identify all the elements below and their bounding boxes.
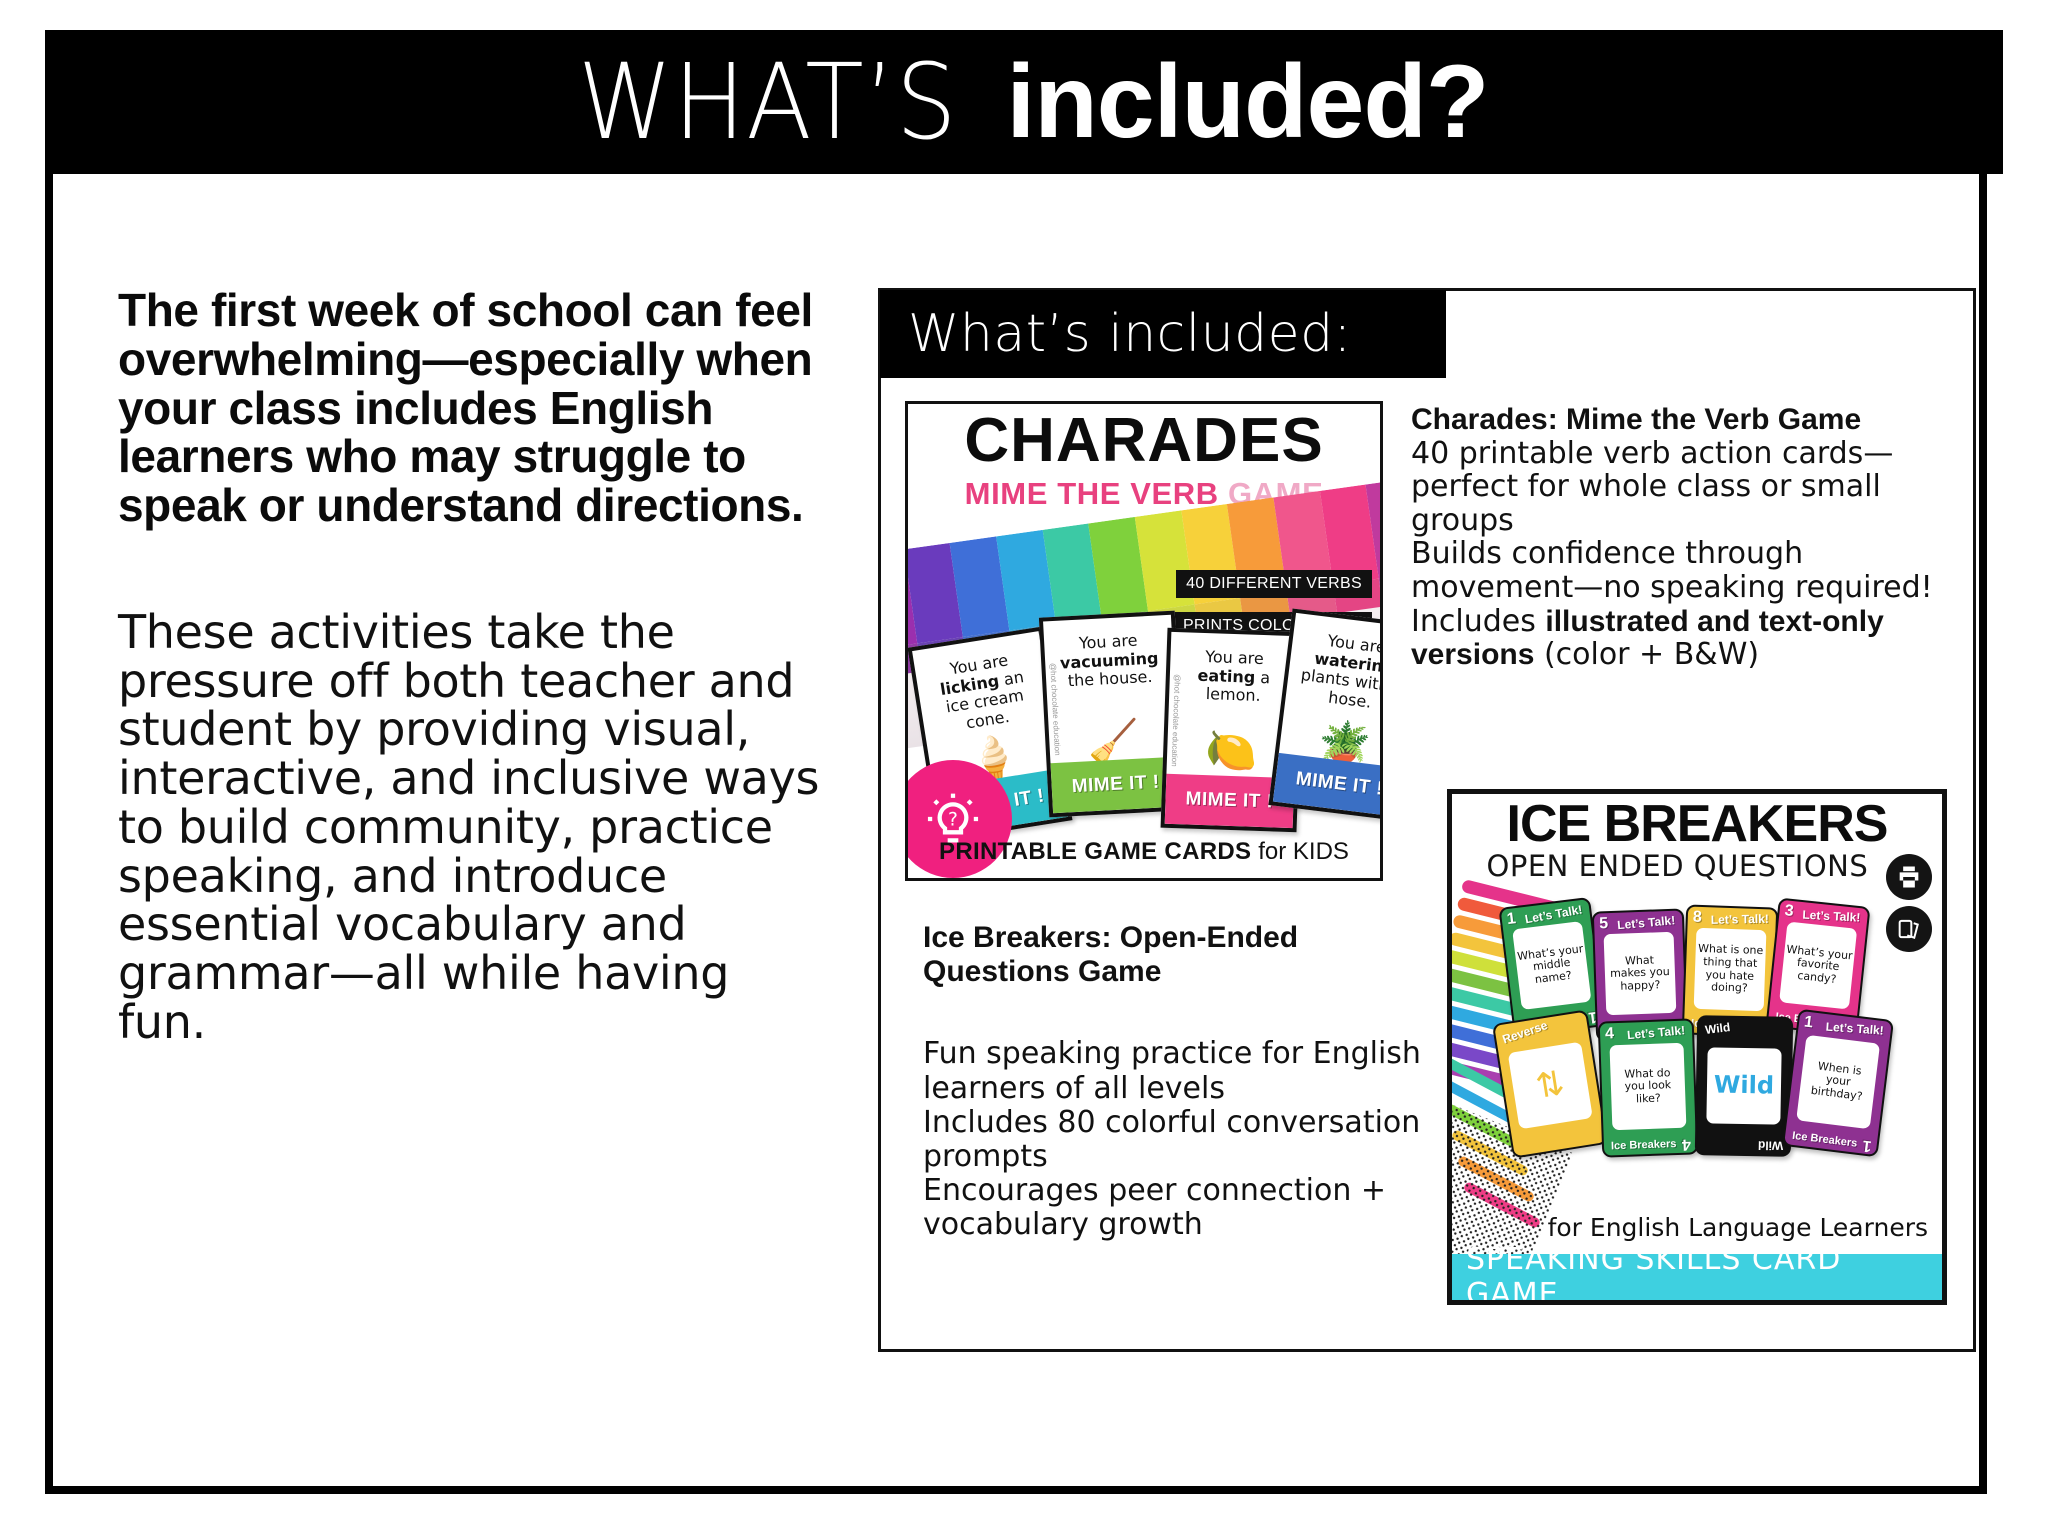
brand-label: Ice Breakers xyxy=(1611,1138,1677,1152)
wild-logo: Wild xyxy=(1707,1047,1782,1124)
icebreakers-footer-note: for English Language Learners xyxy=(1548,1213,1928,1242)
card-question: What’s your middle name? xyxy=(1512,921,1592,1010)
lets-talk-label: Let’s Talk! xyxy=(1627,1023,1686,1042)
lets-talk-label: Let’s Talk! xyxy=(1617,913,1676,932)
card-question: What’s your favorite candy? xyxy=(1779,922,1857,1010)
slide-canvas: WHAT’S included? The first week of schoo… xyxy=(0,0,2048,1536)
charades-description: Charades: Mime the Verb Game 40 printabl… xyxy=(1411,403,1947,672)
charades-desc-heading: Charades: Mime the Verb Game xyxy=(1411,403,1947,437)
lets-talk-label: Let’s Talk! xyxy=(1711,912,1769,927)
charades-card-text: You are eating a lemon. xyxy=(1178,647,1290,706)
icebreaker-reverse-card: Reverse ⇅ xyxy=(1492,1009,1608,1158)
panel-banner: What’s included: xyxy=(880,290,1446,378)
whats-included-panel: What’s included: CHARADES MIME THE VERB … xyxy=(878,288,1976,1352)
body-paragraph: These activities take the pressure off b… xyxy=(118,608,828,1047)
card-question: What do you look like? xyxy=(1610,1043,1686,1130)
card-stack-icon xyxy=(1895,915,1923,943)
charades-product-image: CHARADES MIME THE VERB GAME xyxy=(905,401,1383,881)
icebreakers-title: ICE BREAKERS xyxy=(1452,798,1942,850)
icebreakers-subtitle: OPEN ENDED QUESTIONS xyxy=(1452,852,1903,881)
card-question: What makes you happy? xyxy=(1603,932,1676,1015)
card-number-mirror: 4 xyxy=(1682,1135,1692,1153)
mime-it-label: MIME IT ! xyxy=(1071,772,1160,799)
charades-card-text: You are watering plants with a hose. xyxy=(1294,629,1383,716)
charades-card-text: You are vacuuming the house. xyxy=(1053,631,1166,692)
lead-paragraph: The first week of school can feel overwh… xyxy=(118,286,828,530)
charades-badge-verbs: 40 DIFFERENT VERBS xyxy=(1176,570,1372,598)
charades-desc-line2: Builds confidence through movement—no sp… xyxy=(1411,537,1947,604)
charades-title: CHARADES xyxy=(908,410,1380,472)
printer-icon xyxy=(1895,863,1923,891)
charades-subtitle-hot: MIME THE VERB xyxy=(965,476,1228,511)
charades-desc-line1: 40 printable verb action cards—perfect f… xyxy=(1411,437,1947,538)
card-number: 1 xyxy=(1803,1013,1814,1032)
icebreakers-product-image: ICE BREAKERS OPEN ENDED QUESTIONS xyxy=(1447,789,1947,1305)
header-band: WHAT’S included? xyxy=(45,30,2003,174)
lets-talk-label: Let’s Talk! xyxy=(1802,908,1861,925)
brand-label: Ice Breakers xyxy=(1791,1130,1857,1150)
icebreaker-card: 1 Let’s Talk! When is your birthday? Ice… xyxy=(1782,1009,1894,1158)
card-number: 5 xyxy=(1599,915,1609,933)
card-question: What is one thing that you hate doing? xyxy=(1693,928,1766,1011)
card-verb: eating xyxy=(1197,666,1255,687)
reverse-label: Reverse xyxy=(1501,1018,1550,1046)
wild-label-bottom: Wild xyxy=(1758,1138,1783,1152)
card-number-mirror: 1 xyxy=(1862,1136,1873,1155)
charades-footer-bold: PRINTABLE GAME CARDS xyxy=(939,838,1258,865)
icebreakers-desc-line1: Fun speaking practice for English learne… xyxy=(923,1037,1443,1105)
mime-it-label: MIME IT ! xyxy=(1294,768,1383,801)
card-number: 3 xyxy=(1784,902,1795,921)
icebreakers-band-label: SPEAKING SKILLS CARD GAME xyxy=(1452,1242,1942,1305)
icebreakers-desc-line3: Encourages peer connection + vocabulary … xyxy=(923,1174,1443,1242)
icebreakers-desc-line2: Includes 80 colorful conversation prompt… xyxy=(923,1106,1443,1174)
card-number: 4 xyxy=(1605,1025,1615,1043)
charades-footer-light: for KIDS xyxy=(1258,838,1349,865)
left-copy-column: The first week of school can feel overwh… xyxy=(118,286,828,1047)
page-title: WHAT’S included? xyxy=(45,30,2003,174)
icebreaker-wild-card: Wild Wild Wild xyxy=(1695,1015,1793,1157)
wild-label-top: Wild xyxy=(1704,1020,1731,1037)
page-title-bold: included? xyxy=(1006,43,1488,162)
icebreakers-desc-heading: Ice Breakers: Open-Ended Questions Game xyxy=(923,921,1443,989)
desc-plain-b: (color + B&W) xyxy=(1534,637,1759,672)
desc-plain-a: Includes xyxy=(1411,604,1545,639)
printer-badge xyxy=(1886,854,1932,900)
mime-it-label: MIME IT ! xyxy=(1185,788,1274,813)
panel-banner-label: What’s included: xyxy=(880,304,1352,364)
icebreaker-card: 4 Let’s Talk! What do you look like? Ice… xyxy=(1598,1018,1699,1157)
icebreakers-bottom-band: SPEAKING SKILLS CARD GAME xyxy=(1452,1254,1942,1300)
charades-footer: PRINTABLE GAME CARDS for KIDS xyxy=(908,838,1380,866)
page-title-thin: WHAT’S xyxy=(577,41,988,163)
card-line2: the house. xyxy=(1067,667,1153,690)
card-number: 8 xyxy=(1693,909,1703,927)
icebreakers-description: Ice Breakers: Open-Ended Questions Game … xyxy=(923,921,1443,1243)
charades-desc-line3: Includes illustrated and text-only versi… xyxy=(1411,605,1947,672)
cards-badge xyxy=(1886,906,1932,952)
svg-text:?: ? xyxy=(948,809,958,830)
reverse-arrows-icon: ⇅ xyxy=(1508,1042,1593,1129)
card-question: When is your birthday? xyxy=(1796,1035,1879,1129)
card-number: 1 xyxy=(1506,910,1517,929)
lets-talk-label: Let’s Talk! xyxy=(1825,1020,1884,1038)
charades-card-text: You are licking an ice cream cone. xyxy=(923,647,1043,737)
